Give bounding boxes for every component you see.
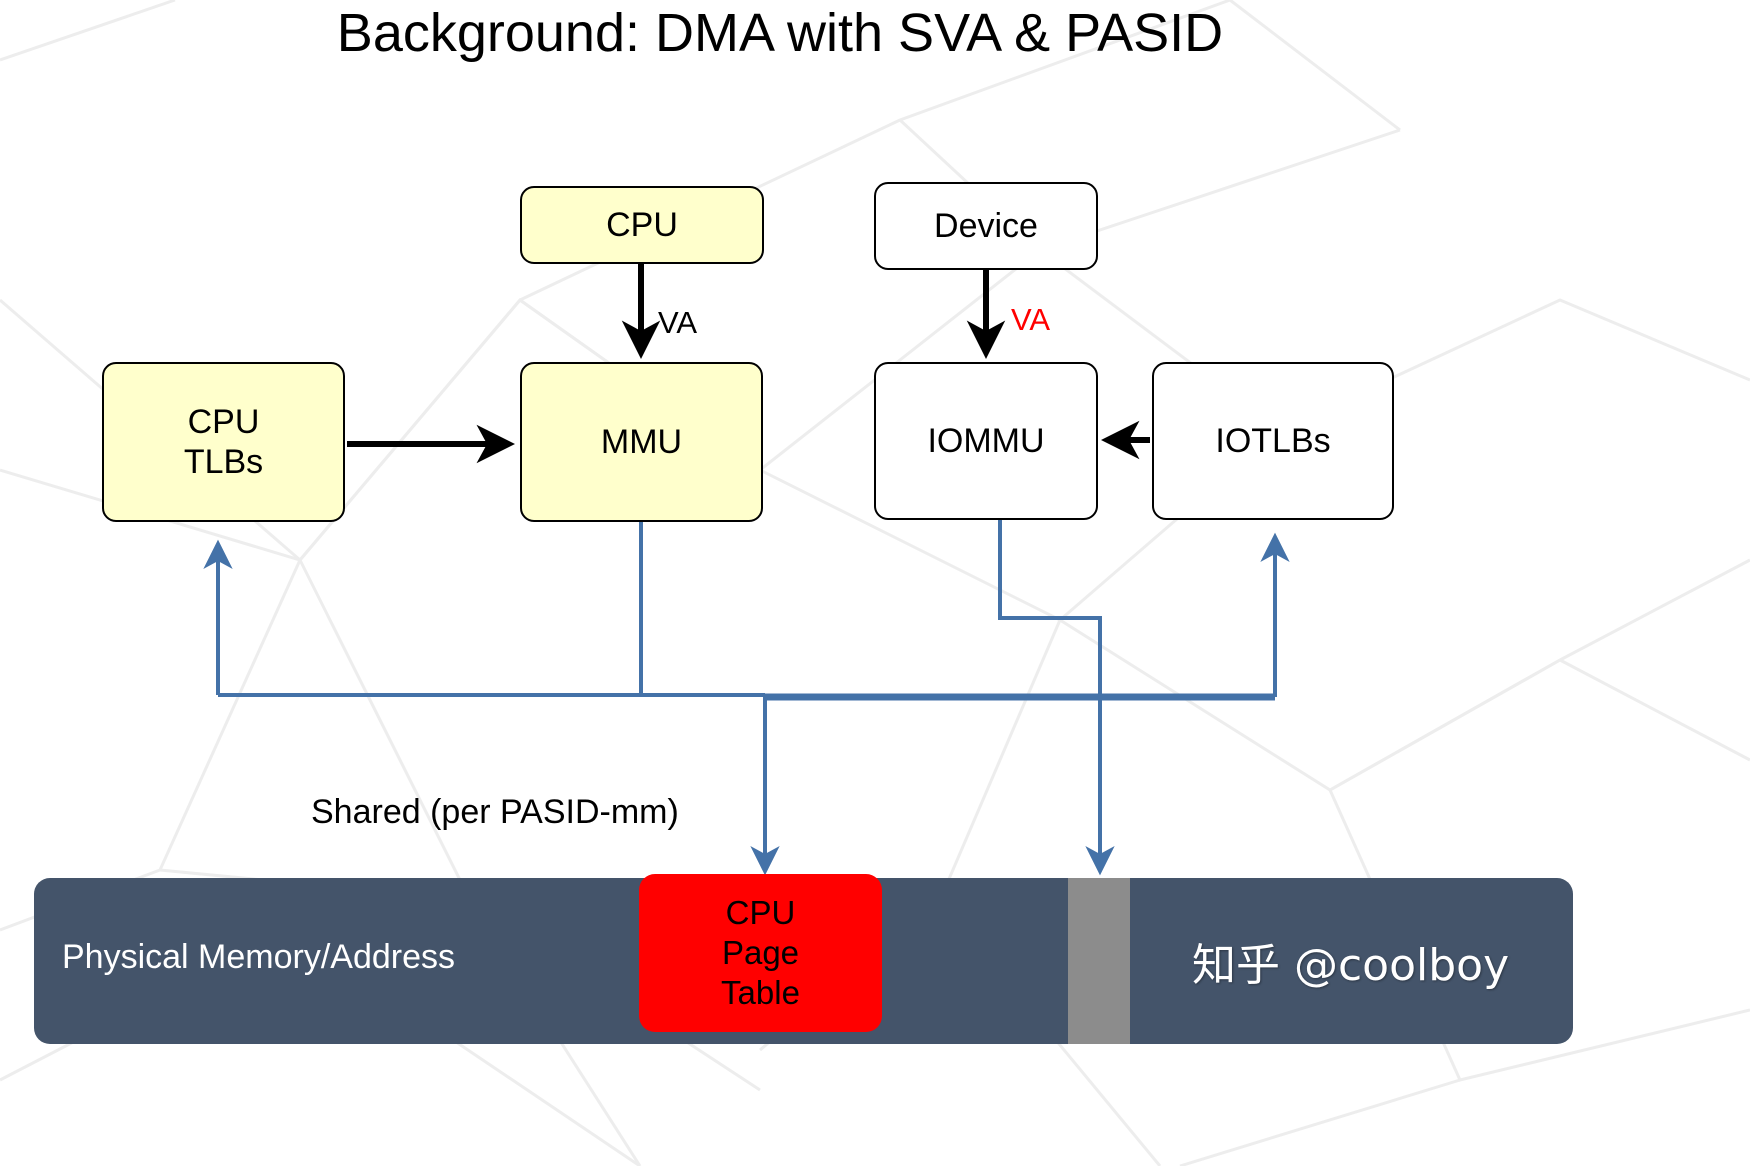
- slide-title: Background: DMA with SVA & PASID: [0, 2, 1560, 64]
- node-cpu-label: CPU: [606, 205, 678, 245]
- node-iotlbs-label: IOTLBs: [1215, 421, 1330, 461]
- node-cpu: CPU: [520, 186, 764, 264]
- node-iotlbs: IOTLBs: [1152, 362, 1394, 520]
- physical-memory-label: Physical Memory/Address: [62, 938, 455, 977]
- watermark: 知乎 @coolboy: [1192, 929, 1509, 993]
- edge-label-va-cpu: VA: [658, 305, 697, 341]
- slide-canvas: Background: DMA with SVA & PASID: [0, 0, 1750, 1166]
- edge-label-shared: Shared (per PASID-mm): [311, 793, 679, 832]
- node-mmu: MMU: [520, 362, 763, 522]
- edge-label-va-device: VA: [1011, 302, 1050, 338]
- node-iommu-label: IOMMU: [927, 421, 1044, 461]
- node-cpu-tlbs-label: CPU TLBs: [184, 402, 263, 482]
- node-device-label: Device: [934, 206, 1038, 246]
- memory-gray-region: [1068, 878, 1130, 1044]
- node-cpu-tlbs: CPU TLBs: [102, 362, 345, 522]
- node-cpu-page-table: CPU Page Table: [639, 874, 882, 1032]
- node-iommu: IOMMU: [874, 362, 1098, 520]
- node-mmu-label: MMU: [601, 422, 682, 462]
- node-device: Device: [874, 182, 1098, 270]
